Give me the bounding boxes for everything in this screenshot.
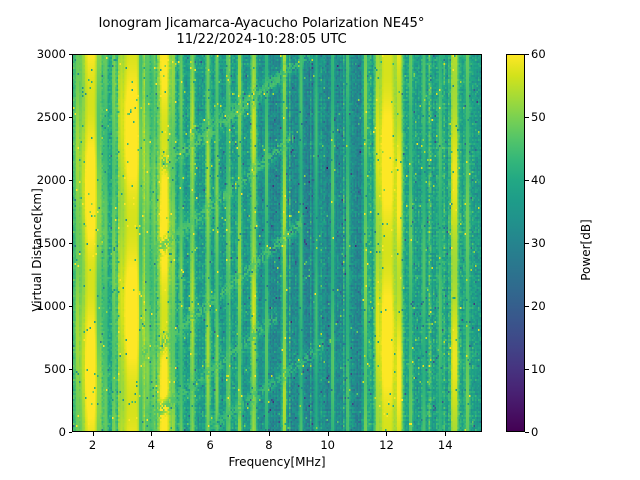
colorbar-tick-label: 30 bbox=[531, 236, 546, 250]
chart-title: Ionogram Jicamarca-Ayacucho Polarization… bbox=[0, 16, 523, 49]
colorbar-tick bbox=[525, 432, 529, 433]
colorbar-tick bbox=[525, 369, 529, 370]
y-axis-tick bbox=[69, 306, 73, 307]
y-axis-tick bbox=[69, 117, 73, 118]
x-axis-tick-label: 6 bbox=[206, 438, 213, 452]
y-axis-tick bbox=[69, 369, 73, 370]
y-axis-label: Virtual Distance[km] bbox=[30, 150, 44, 350]
y-axis-tick-label: 500 bbox=[44, 362, 66, 376]
x-axis-tick-label: 10 bbox=[320, 438, 335, 452]
x-axis-tick bbox=[269, 432, 270, 436]
x-axis-tick bbox=[328, 432, 329, 436]
colorbar-tick bbox=[525, 180, 529, 181]
x-axis-tick bbox=[386, 432, 387, 436]
colorbar[interactable] bbox=[506, 54, 525, 432]
colorbar-tick bbox=[525, 306, 529, 307]
ionogram-figure: Ionogram Jicamarca-Ayacucho Polarization… bbox=[0, 0, 640, 480]
y-axis-tick bbox=[69, 432, 73, 433]
colorbar-tick-label: 10 bbox=[531, 362, 546, 376]
x-axis-tick-label: 14 bbox=[438, 438, 453, 452]
y-axis-tick bbox=[69, 243, 73, 244]
colorbar-tick bbox=[525, 117, 529, 118]
x-axis-tick-label: 2 bbox=[89, 438, 96, 452]
y-axis-tick-label: 0 bbox=[59, 425, 66, 439]
x-axis-tick bbox=[445, 432, 446, 436]
y-axis-tick bbox=[69, 54, 73, 55]
colorbar-tick bbox=[525, 54, 529, 55]
y-axis-tick-label: 3000 bbox=[37, 47, 66, 61]
x-axis-tick bbox=[93, 432, 94, 436]
x-axis-tick bbox=[210, 432, 211, 436]
x-axis-tick bbox=[151, 432, 152, 436]
colorbar-tick-label: 0 bbox=[531, 425, 538, 439]
x-axis-tick-label: 12 bbox=[379, 438, 394, 452]
colorbar-tick bbox=[525, 243, 529, 244]
y-axis-tick bbox=[69, 180, 73, 181]
x-axis-label: Frequency[MHz] bbox=[72, 455, 482, 469]
y-axis-tick-label: 2500 bbox=[37, 110, 66, 124]
colorbar-tick-label: 20 bbox=[531, 299, 546, 313]
colorbar-label: Power[dB] bbox=[579, 150, 593, 350]
colorbar-tick-label: 50 bbox=[531, 110, 546, 124]
ionogram-heatmap-canvas[interactable] bbox=[73, 55, 481, 431]
colorbar-tick-label: 60 bbox=[531, 47, 546, 61]
heatmap-plot-area[interactable] bbox=[72, 54, 482, 432]
x-axis-tick-label: 4 bbox=[148, 438, 155, 452]
colorbar-tick-label: 40 bbox=[531, 173, 546, 187]
colorbar-gradient bbox=[507, 55, 524, 431]
x-axis-tick-label: 8 bbox=[265, 438, 272, 452]
